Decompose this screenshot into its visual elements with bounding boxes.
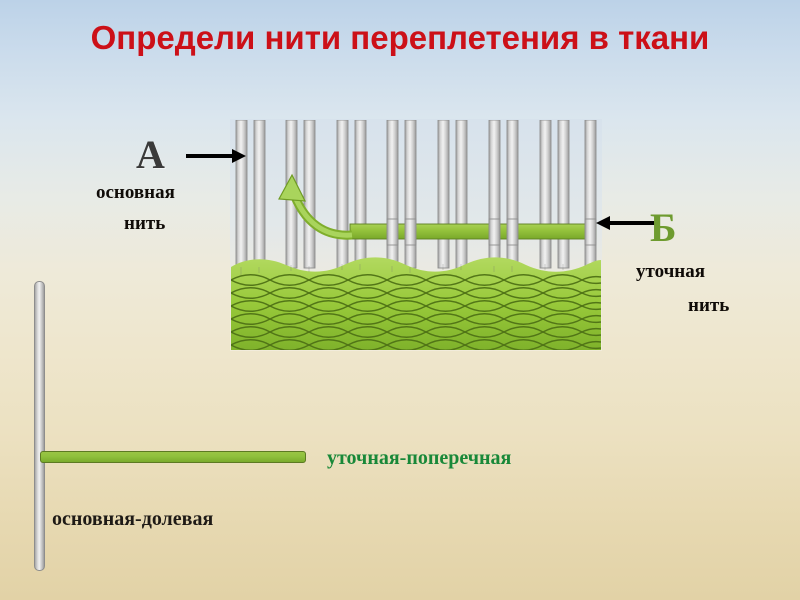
fabric-weave-diagram xyxy=(230,119,602,351)
page-title: Определи нити переплетения в ткани xyxy=(90,18,710,58)
legend-warp-thread xyxy=(34,281,45,571)
legend-weft-thread xyxy=(40,451,306,463)
arrow-right-icon xyxy=(186,148,246,164)
label-letter-b: Б xyxy=(650,204,676,251)
legend-label-weft: уточная-поперечная xyxy=(327,447,511,470)
label-weft-line2: нить xyxy=(688,295,729,317)
weave-graphic xyxy=(230,119,602,351)
label-warp-line1: основная xyxy=(96,182,175,204)
woven-fabric-body xyxy=(231,257,601,350)
label-letter-a: А xyxy=(136,131,165,178)
label-warp-line2: нить xyxy=(124,213,165,235)
label-weft-line1: уточная xyxy=(636,261,705,283)
legend-label-warp: основная-долевая xyxy=(52,508,213,531)
arrow-left-icon xyxy=(596,215,656,231)
slide-canvas: Определи нити переплетения в ткани xyxy=(0,0,800,600)
